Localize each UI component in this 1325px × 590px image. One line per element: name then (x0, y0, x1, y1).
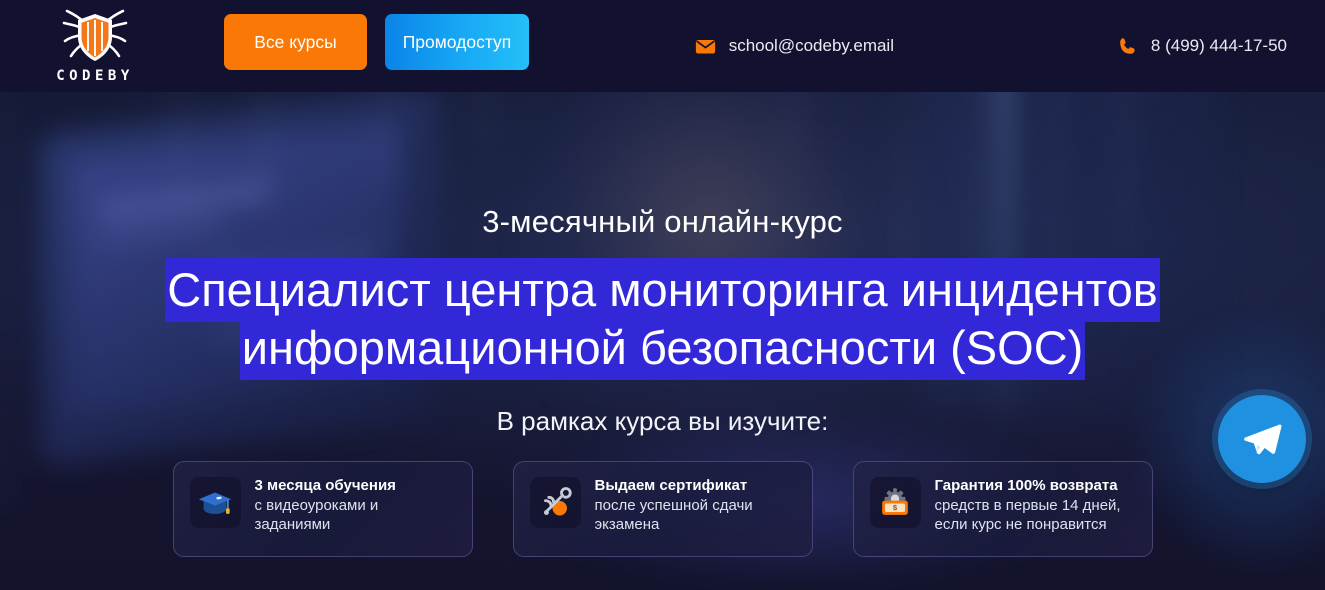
phone-link[interactable]: 8 (499) 444-17-50 (1117, 36, 1287, 57)
card-icon-tile: $ (870, 477, 921, 528)
phone-text: 8 (499) 444-17-50 (1151, 36, 1287, 56)
feature-card-certificate: Выдаем сертификат после успешной сдачи э… (513, 461, 813, 557)
money-back-icon: $ (876, 484, 914, 522)
card-text: после успешной сдачи экзамена (595, 496, 798, 534)
card-icon-tile (530, 477, 581, 528)
card-body: Выдаем сертификат после успешной сдачи э… (595, 475, 798, 534)
logo[interactable]: CODEBY (40, 5, 150, 87)
envelope-icon (695, 36, 716, 57)
graduation-cap-icon (196, 484, 234, 522)
card-body: 3 месяца обучения с видеоуроками и задан… (255, 475, 458, 534)
feature-card-guarantee: $ Гарантия 100% возврата средств в первы… (853, 461, 1153, 557)
card-title: Выдаем сертификат (595, 476, 798, 495)
feature-card-duration: 3 месяца обучения с видеоуроками и задан… (173, 461, 473, 557)
promo-access-button[interactable]: Промодоступ (385, 14, 529, 70)
card-text: средств в первые 14 дней, если курс не п… (935, 496, 1138, 534)
telegram-paper-plane-icon (1240, 417, 1284, 461)
telegram-button[interactable] (1218, 395, 1306, 483)
card-text: с видеоуроками и заданиями (255, 496, 458, 534)
hero-content: 3-месячный онлайн-курс Специалист центра… (0, 204, 1325, 557)
headline-line-2: информационной безопасности (SOC) (240, 316, 1086, 380)
feature-cards: 3 месяца обучения с видеоуроками и задан… (173, 461, 1153, 557)
spider-shield-logo-icon (62, 9, 128, 67)
card-title: 3 месяца обучения (255, 476, 458, 495)
logo-wordmark: CODEBY (56, 69, 134, 83)
phone-icon (1117, 36, 1138, 57)
card-title: Гарантия 100% возврата (935, 476, 1138, 495)
card-body: Гарантия 100% возврата средств в первые … (935, 475, 1138, 534)
landing-page: CODEBY Все курсы Промодоступ school@code… (0, 0, 1325, 590)
page-title: Специалист центра мониторинга инцидентов… (83, 261, 1243, 377)
all-courses-button[interactable]: Все курсы (224, 14, 367, 70)
email-text: school@codeby.email (729, 36, 894, 56)
headline-line-1: Специалист центра мониторинга инцидентов (165, 258, 1159, 322)
card-icon-tile (190, 477, 241, 528)
certificate-scroll-icon (536, 484, 574, 522)
hero-section: 3-месячный онлайн-курс Специалист центра… (0, 92, 1325, 590)
email-link[interactable]: school@codeby.email (695, 36, 894, 57)
hero-kicker: 3-месячный онлайн-курс (0, 204, 1325, 240)
header-buttons: Все курсы Промодоступ (224, 14, 529, 70)
site-header: CODEBY Все курсы Промодоступ school@code… (0, 0, 1325, 92)
